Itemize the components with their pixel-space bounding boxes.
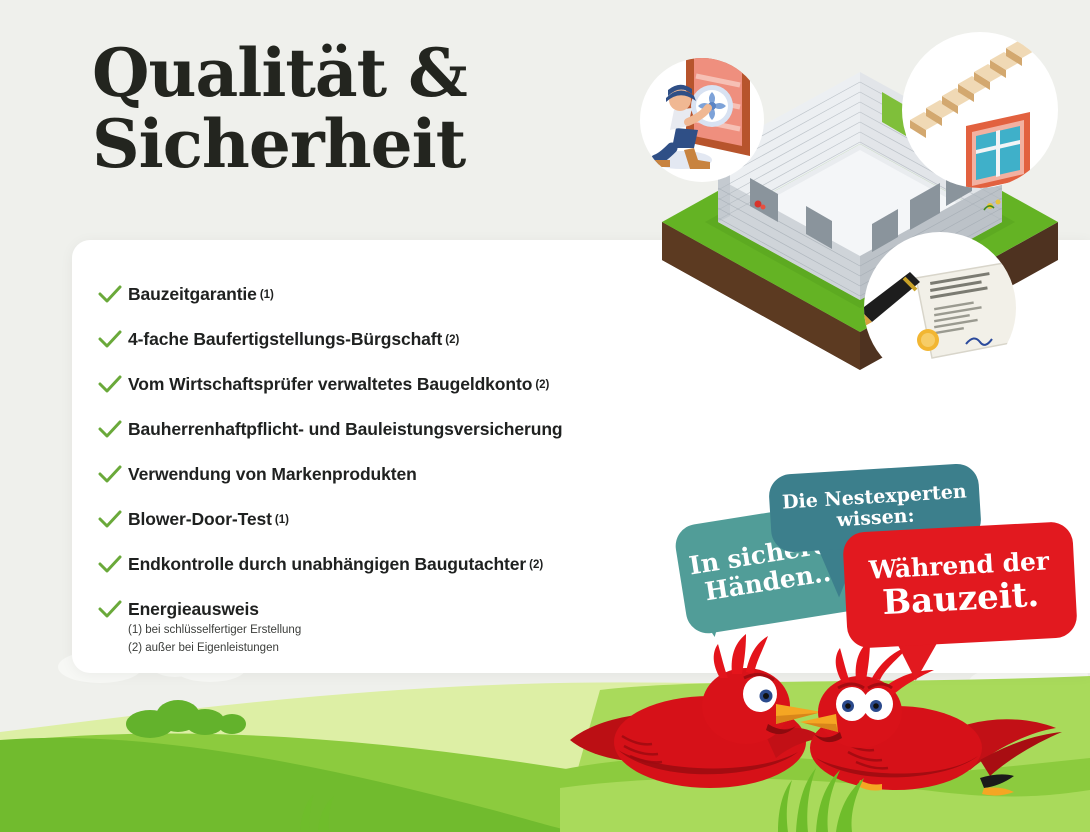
title-line-2: Sicherheit xyxy=(92,109,467,180)
list-item: 4-fache Baufertigstellungs-Bürgschaft (2… xyxy=(98,317,658,362)
bubble-top-line2: wissen: xyxy=(836,505,915,532)
check-icon xyxy=(98,375,128,395)
bubble-red-line2: Bauzeit. xyxy=(870,575,1052,622)
speech-bubbles: In sicheren Händen... Die Nestexperten w… xyxy=(660,455,1090,655)
list-item: Bauzeitgarantie (1) xyxy=(98,272,658,317)
title-line-1: Qualität & xyxy=(92,38,467,109)
list-item-footnote-ref: (1) xyxy=(260,289,274,301)
check-icon xyxy=(98,330,128,350)
check-icon xyxy=(98,420,128,440)
check-icon xyxy=(98,600,128,620)
list-item: Vom Wirtschaftsprüfer verwaltetes Baugel… xyxy=(98,362,658,407)
benefits-checklist: Bauzeitgarantie (1) 4-fache Baufertigste… xyxy=(98,272,658,632)
list-item-label: Endkontrolle durch unabhängigen Baugutac… xyxy=(128,554,526,575)
page-title: Qualität & Sicherheit xyxy=(92,38,467,181)
list-item-footnote-ref: (2) xyxy=(445,334,459,346)
isometric-house-illustration xyxy=(610,10,1090,380)
list-item-footnote-ref: (2) xyxy=(535,379,549,391)
check-icon xyxy=(98,285,128,305)
check-icon xyxy=(98,555,128,575)
list-item-label: Bauzeitgarantie xyxy=(128,284,257,305)
list-item: Bauherrenhaftpflicht- und Bauleistungsve… xyxy=(98,407,658,452)
footnotes: (1) bei schlüsselfertiger Erstellung (2)… xyxy=(128,622,301,658)
footnote-2: (2) außer bei Eigenleistungen xyxy=(128,640,301,658)
check-icon xyxy=(98,510,128,530)
list-item-label: Verwendung von Markenprodukten xyxy=(128,464,417,485)
list-item-label: Blower-Door-Test xyxy=(128,509,272,530)
infographic-canvas: Qualität & Sicherheit Bauzeitgarantie (1… xyxy=(0,0,1090,832)
check-icon xyxy=(98,465,128,485)
list-item-label: 4-fache Baufertigstellungs-Bürgschaft xyxy=(128,329,442,350)
list-item: Verwendung von Markenprodukten xyxy=(98,452,658,497)
list-item-label: Bauherrenhaftpflicht- und Bauleistungsve… xyxy=(128,419,563,440)
list-item: Blower-Door-Test (1) xyxy=(98,497,658,542)
list-item-label: Energieausweis xyxy=(128,599,259,620)
list-item-footnote-ref: (1) xyxy=(275,514,289,526)
list-item-footnote-ref: (2) xyxy=(529,559,543,571)
footnote-1: (1) bei schlüsselfertiger Erstellung xyxy=(128,622,301,640)
bubble-waehrend-der-bauzeit: Während der Bauzeit. xyxy=(842,521,1078,649)
list-item-label: Vom Wirtschaftsprüfer verwaltetes Baugel… xyxy=(128,374,532,395)
list-item: Endkontrolle durch unabhängigen Baugutac… xyxy=(98,542,658,587)
